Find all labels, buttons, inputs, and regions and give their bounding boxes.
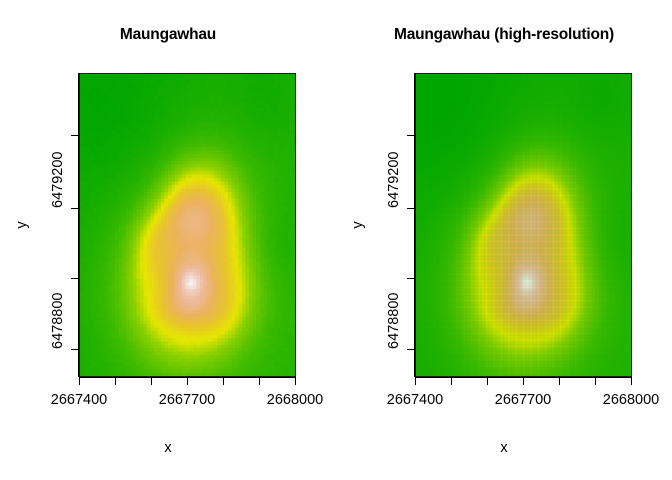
heatmap-right xyxy=(415,73,632,377)
y-tick xyxy=(71,135,78,136)
y-tick xyxy=(71,349,78,350)
x-tick-label: 2667400 xyxy=(51,392,107,408)
panel-title-right: Maungawhau (high-resolution) xyxy=(336,26,672,44)
y-tick xyxy=(71,278,78,279)
x-tick xyxy=(115,378,116,385)
x-tick-label: 2668000 xyxy=(267,392,323,408)
panel-maungawhau: Maungawhau 2667 xyxy=(0,0,336,480)
y-tick-label: 6479200 xyxy=(50,152,66,208)
x-tick xyxy=(295,378,296,385)
y-tick xyxy=(407,208,414,209)
x-tick xyxy=(451,378,452,385)
y-tick xyxy=(407,278,414,279)
y-tick-label: 6478800 xyxy=(50,293,66,349)
x-tick-label: 2668000 xyxy=(603,392,659,408)
x-tick xyxy=(523,378,524,385)
y-tick-label: 6478800 xyxy=(386,293,402,349)
x-tick xyxy=(187,378,188,385)
x-tick-label: 2667700 xyxy=(159,392,215,408)
figure-canvas: Maungawhau 2667 xyxy=(0,0,672,480)
x-tick xyxy=(559,378,560,385)
heatmap-left xyxy=(79,73,296,377)
x-axis-title-right: x xyxy=(336,440,672,456)
volcano-raster-lowres xyxy=(80,74,295,376)
x-tick xyxy=(223,378,224,385)
x-tick xyxy=(595,378,596,385)
panel-title-left: Maungawhau xyxy=(0,26,336,44)
x-tick-label: 2667400 xyxy=(387,392,443,408)
y-tick xyxy=(71,208,78,209)
x-tick-label: 2667700 xyxy=(495,392,551,408)
x-tick xyxy=(151,378,152,385)
x-tick xyxy=(259,378,260,385)
y-tick-label: 6479200 xyxy=(386,152,402,208)
y-tick xyxy=(407,349,414,350)
y-axis-title-right: y xyxy=(350,221,366,228)
x-tick xyxy=(487,378,488,385)
y-axis-line-left xyxy=(78,73,79,377)
y-axis-title-left: y xyxy=(14,221,30,228)
x-tick xyxy=(415,378,416,385)
y-axis-line-right xyxy=(414,73,415,377)
y-tick xyxy=(407,135,414,136)
panel-maungawhau-highres: Maungawhau (high-resolution) 2667400 266… xyxy=(336,0,672,480)
volcano-raster-highres xyxy=(416,74,631,376)
x-tick xyxy=(631,378,632,385)
x-tick xyxy=(79,378,80,385)
x-axis-title-left: x xyxy=(0,440,336,456)
